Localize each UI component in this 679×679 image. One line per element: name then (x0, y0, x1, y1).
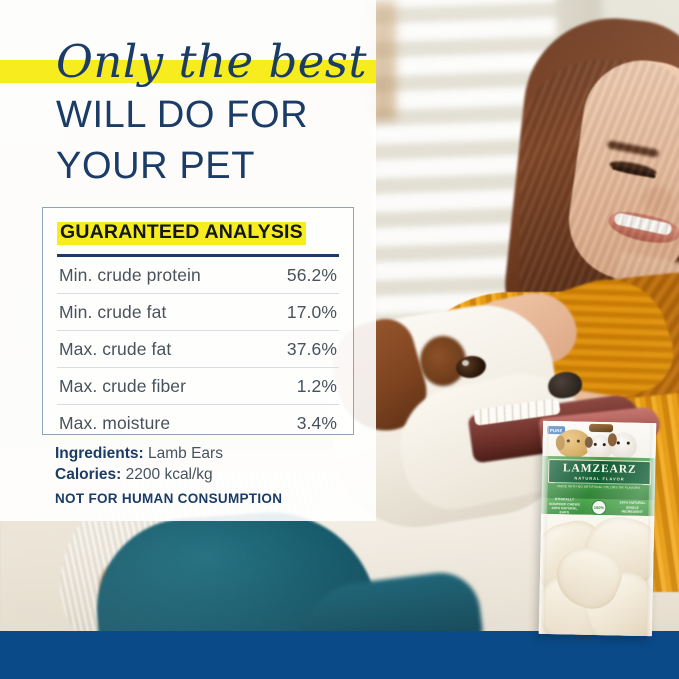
package-dog-eye-icon (617, 441, 620, 444)
table-row: Min. crude protein 56.2% (57, 257, 339, 294)
guaranteed-analysis-box: GUARANTEED ANALYSIS Min. crude protein 5… (42, 207, 354, 435)
package-green-band: LAMZEARZ NATURAL FLAVOR MADE WITH NO ART… (542, 456, 656, 502)
calories-value: 2200 kcal/kg (121, 466, 212, 483)
analysis-title: GUARANTEED ANALYSIS (57, 222, 306, 245)
package-quality-seal-icon: 100% (591, 499, 606, 514)
info-panel: Only the best WILL DO FOR YOUR PET GUARA… (0, 0, 376, 521)
package-claim-left: ETHICALLY SOURCED CHEWS 100% NATURAL EAR… (546, 497, 582, 515)
analysis-value: 56.2% (287, 265, 337, 286)
bottom-brand-bar (0, 631, 679, 679)
headline-block-line-1: WILL DO FOR (56, 92, 376, 139)
package-brand-strip: MADE WITH NO ARTIFICIAL COLORS OR FLAVOR… (555, 482, 643, 491)
analysis-label: Min. crude fat (59, 302, 166, 323)
brand-name: LAMZEARZ (563, 463, 637, 476)
table-row: Max. crude fat 37.6% (57, 331, 339, 368)
analysis-value: 1.2% (297, 376, 337, 397)
analysis-title-wrap: GUARANTEED ANALYSIS (57, 222, 339, 245)
package-claim-right: 100% NATURAL SINGLE INGREDIENT (615, 501, 649, 515)
headline-block-line-2: YOUR PET (56, 143, 376, 190)
analysis-label: Min. crude protein (59, 265, 201, 286)
package-dog-eye-icon (594, 443, 597, 446)
ingredients-line: Ingredients: Lamb Ears (55, 443, 365, 464)
package-brand-plate: LAMZEARZ NATURAL FLAVOR (548, 459, 651, 485)
analysis-label: Max. crude fat (59, 339, 171, 360)
package-clear-window (539, 514, 654, 636)
package-dog-eye-icon (603, 443, 606, 446)
product-infographic: Only the best WILL DO FOR YOUR PET GUARA… (0, 0, 679, 679)
product-package: PURE LAMZEARZ NATURAL FLAVOR MADE WITH N… (539, 421, 656, 636)
analysis-label: Max. crude fiber (59, 376, 186, 397)
table-row: Min. crude fat 17.0% (57, 294, 339, 331)
headline-script-line: Only the best (56, 36, 376, 88)
human-consumption-warning: NOT FOR HUMAN CONSUMPTION (55, 491, 365, 506)
analysis-value: 37.6% (287, 339, 337, 360)
headline-group: Only the best WILL DO FOR YOUR PET (56, 36, 376, 190)
ingredients-label: Ingredients: (55, 445, 144, 462)
package-dog-eye-icon (577, 440, 580, 443)
package-dog-eye-icon (627, 442, 630, 445)
package-header: PURE (542, 421, 656, 459)
product-footer-info: Ingredients: Lamb Ears Calories: 2200 kc… (55, 443, 365, 506)
brand-subtitle: NATURAL FLAVOR (574, 475, 624, 481)
table-row: Max. crude fiber 1.2% (57, 368, 339, 405)
analysis-value: 17.0% (287, 302, 337, 323)
table-row: Max. moisture 3.4% (57, 405, 339, 441)
ingredients-value: Lamb Ears (144, 445, 223, 462)
analysis-value: 3.4% (297, 413, 337, 434)
analysis-label: Max. moisture (59, 413, 170, 434)
calories-label: Calories: (55, 466, 121, 483)
package-dog-eye-icon (567, 439, 570, 442)
package-crest-icon (589, 424, 613, 433)
calories-line: Calories: 2200 kcal/kg (55, 464, 365, 485)
